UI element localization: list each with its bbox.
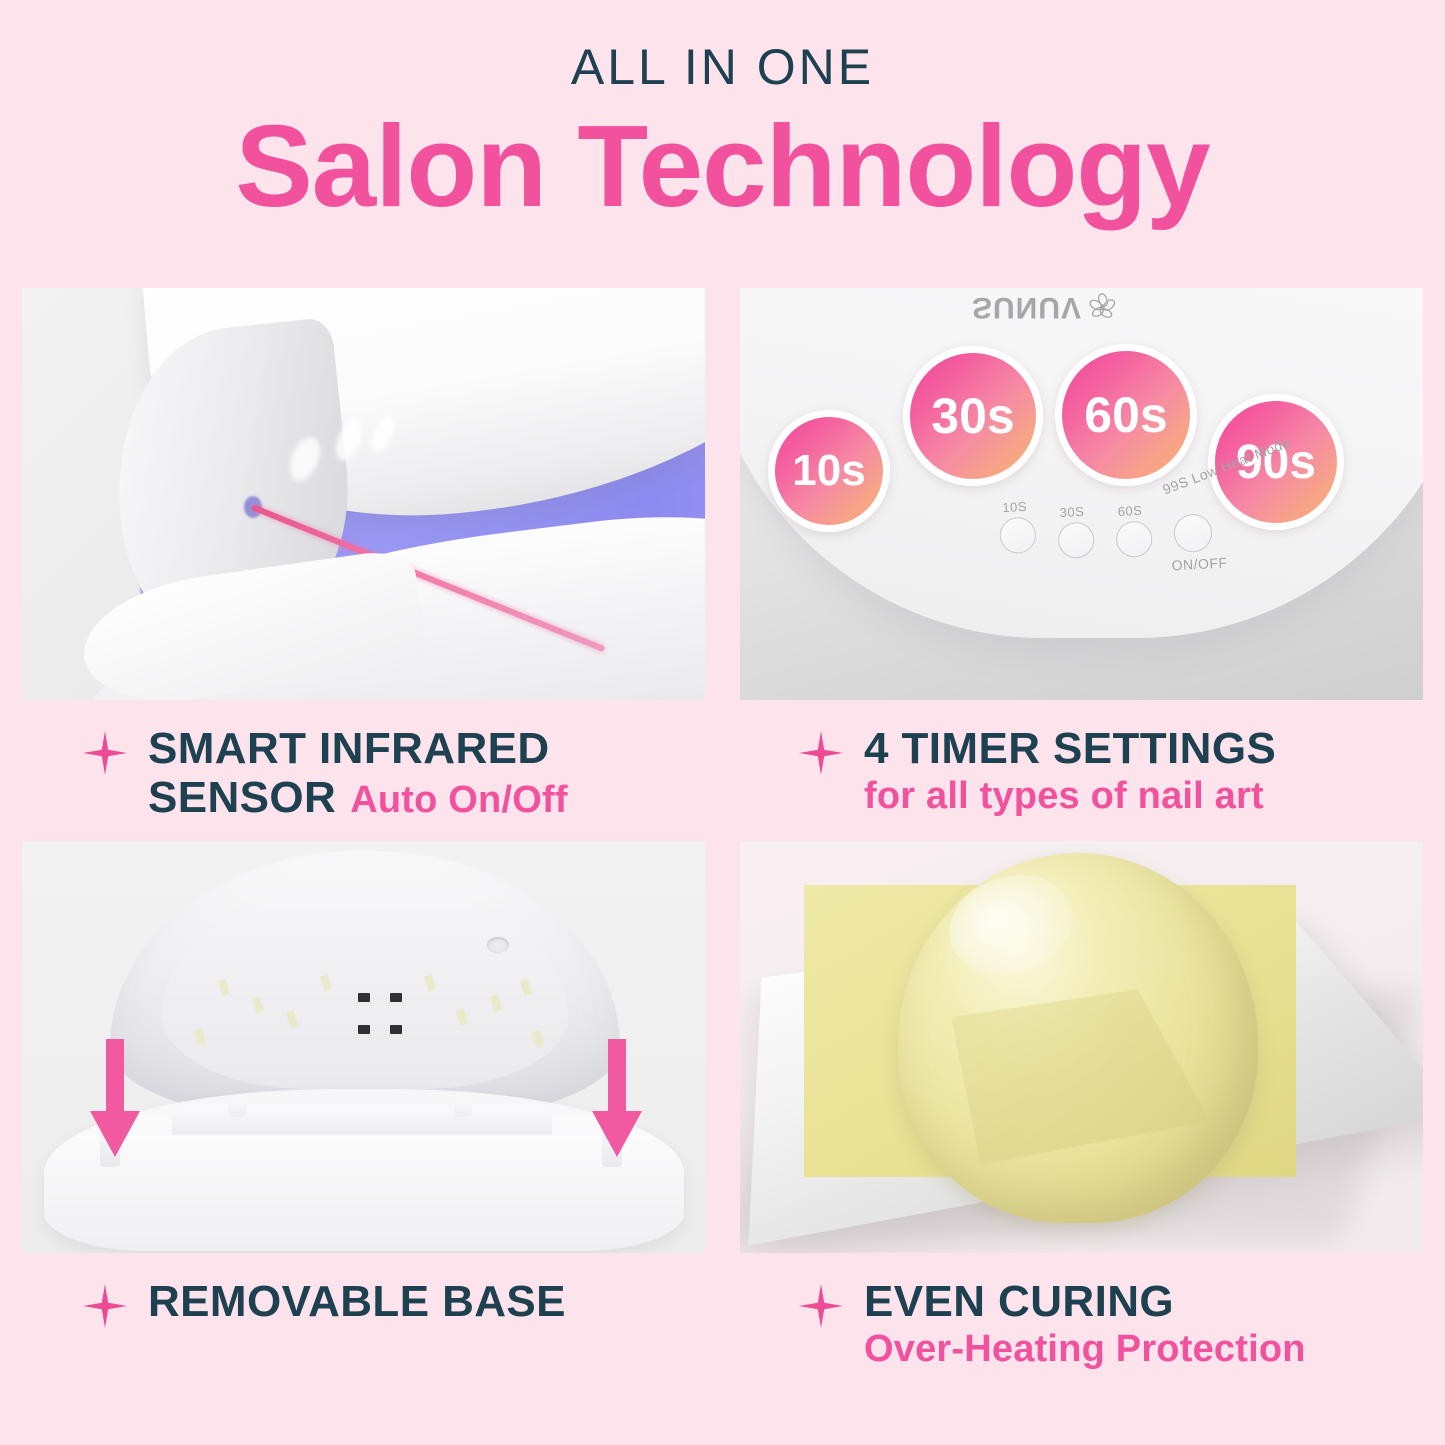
feature-caption: REMOVABLE BASE: [22, 1253, 705, 1329]
device-button-label-60s: 60S: [1117, 503, 1142, 519]
timer-bubble-30s: 30s: [903, 346, 1043, 486]
page-title: Salon Technology: [0, 102, 1445, 232]
dome-led-6: [456, 1008, 469, 1026]
timer-bubble-10s: 10s: [768, 410, 890, 532]
dome-vent-3: [358, 1025, 370, 1034]
dome-vent-4: [390, 1025, 402, 1034]
dome-led-1: [218, 978, 231, 996]
removable-base-exploded-photo: [22, 841, 705, 1253]
device-knob-60s: [1115, 520, 1153, 558]
timer-control-panel-photo: SUNUV 10s 30s: [740, 288, 1423, 700]
feature-title: EVEN CURING: [864, 1277, 1174, 1326]
sunuv-brand-logo: SUNUV: [972, 290, 1118, 324]
feature-card-removable-base: REMOVABLE BASE: [22, 841, 705, 1371]
timer-bubble-60s: 60s: [1055, 344, 1197, 486]
feature-caption: 4 TIMER SETTINGS for all types of nail a…: [740, 700, 1423, 818]
device-button-label-10s: 10S: [1002, 499, 1027, 515]
sparkle-icon: [82, 1283, 128, 1329]
sparkle-icon: [798, 730, 844, 776]
dome-vent-2: [390, 993, 402, 1002]
feature-card-4-timer-settings: SUNUV 10s 30s: [740, 288, 1423, 823]
feature-caption: SMART INFRARED SENSORAuto On/Off: [22, 700, 705, 823]
feature-title: 4 TIMER SETTINGS: [864, 724, 1276, 773]
feature-title: REMOVABLE BASE: [148, 1277, 566, 1326]
feature-caption-text: REMOVABLE BASE: [148, 1277, 566, 1326]
dome-vent-1: [358, 993, 370, 1002]
dome-led-5: [424, 974, 437, 992]
feature-card-even-curing: EVEN CURING Over-Heating Protection: [740, 841, 1423, 1371]
flower-icon: [1088, 292, 1118, 322]
dome-led-10: [532, 1030, 545, 1048]
device-button-row: 10S 30S 60S 99S Low Heat Mode ON/OFF: [995, 472, 1320, 599]
header-kicker: ALL IN ONE: [0, 42, 1445, 92]
dome-led-8: [520, 978, 533, 996]
arrow-down-icon-right: [590, 1039, 644, 1159]
dome-led-4: [320, 974, 333, 992]
feature-caption-text: EVEN CURING Over-Heating Protection: [864, 1277, 1306, 1371]
dome-led-7: [490, 994, 503, 1012]
feature-card-smart-infrared-sensor: SMART INFRARED SENSORAuto On/Off: [22, 288, 705, 823]
device-knob-30s: [1057, 521, 1095, 559]
uv-lamp-infrared-beam-photo: [22, 288, 705, 700]
base-notch-left: [228, 1099, 246, 1117]
feature-caption-text: SMART INFRARED SENSORAuto On/Off: [148, 724, 705, 823]
page-header: ALL IN ONE Salon Technology: [0, 0, 1445, 232]
feature-subtitle: Over-Heating Protection: [864, 1328, 1306, 1371]
dome-led-2: [252, 996, 265, 1014]
feature-caption: EVEN CURING Over-Heating Protection: [740, 1253, 1423, 1371]
feature-grid: SMART INFRARED SENSORAuto On/Off SUNUV: [22, 288, 1423, 1370]
sunuv-logo-text: SUNUV: [972, 290, 1082, 324]
feature-subtitle: Auto On/Off: [350, 779, 567, 821]
feature-subtitle: for all types of nail art: [864, 775, 1276, 818]
device-knob-10s: [999, 516, 1037, 554]
device-button-label-30s: 30S: [1059, 504, 1084, 520]
sparkle-icon: [798, 1283, 844, 1329]
sparkle-icon: [82, 730, 128, 776]
base-notch-right: [454, 1099, 472, 1117]
led-chip-closeup-photo: [740, 841, 1423, 1253]
device-power-label: ON/OFF: [1171, 554, 1228, 573]
dome-sensor-hole: [487, 937, 509, 953]
arrow-down-icon-left: [88, 1039, 142, 1159]
device-knob-power: [1173, 513, 1213, 553]
feature-caption-text: 4 TIMER SETTINGS for all types of nail a…: [864, 724, 1276, 818]
dome-led-3: [286, 1010, 299, 1028]
dome-led-9: [194, 1028, 207, 1046]
